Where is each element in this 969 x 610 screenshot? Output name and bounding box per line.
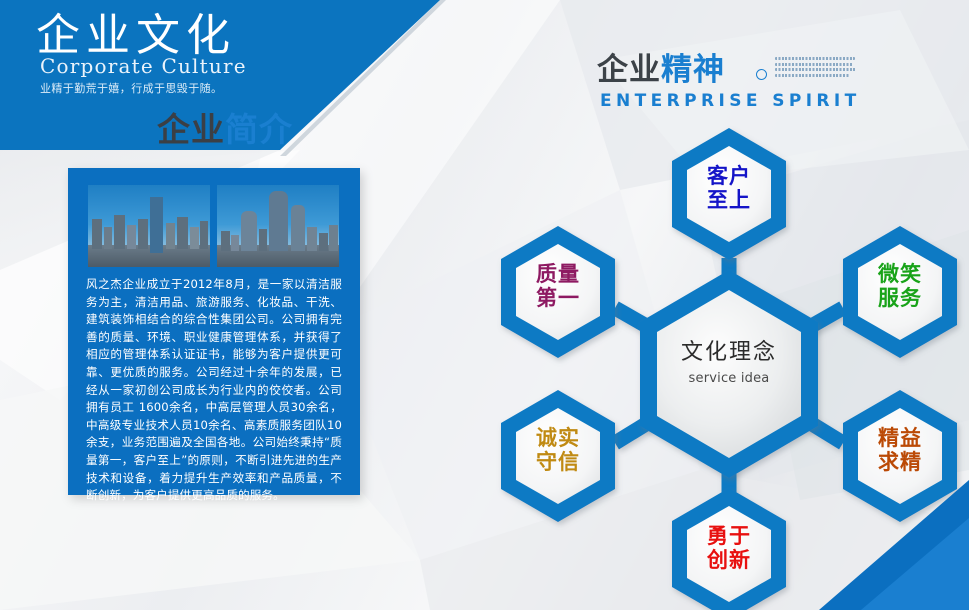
ring-icon	[756, 69, 767, 80]
intro-heading-dark: 企业	[157, 110, 225, 149]
spirit-title-en: ENTERPRISE SPIRIT	[600, 91, 861, 111]
center-hexagon	[640, 270, 818, 478]
hexagon-node-customer-first	[672, 128, 786, 260]
banner-title-en: Corporate Culture	[40, 54, 247, 78]
poster-canvas: 企业文化 Corporate Culture 业精于勤荒于嬉，行成于思毁于随。 …	[0, 0, 969, 610]
city-skyline-photo-1	[88, 185, 210, 267]
hexagon-node-excellence	[843, 390, 957, 522]
intro-heading: 企业简介	[157, 113, 293, 146]
spirit-title-dark: 企业	[597, 52, 661, 88]
intro-heading-blue: 简介	[225, 110, 293, 149]
enterprise-spirit-title: 企业精神 ENTERPRISE SPIRIT	[597, 55, 927, 113]
banner-title-cn: 企业文化	[36, 14, 236, 58]
hexagon-node-quality-first	[501, 226, 615, 358]
company-intro-card: 风之杰企业成立于2012年8月，是一家以清洁服务为主，清洁用品、旅游服务、化妆品…	[68, 168, 360, 495]
company-intro-text: 风之杰企业成立于2012年8月，是一家以清洁服务为主，清洁用品、旅游服务、化妆品…	[86, 276, 342, 505]
photo-strip	[88, 185, 340, 267]
banner-subtitle: 业精于勤荒于嬉，行成于思毁于随。	[40, 80, 222, 96]
hexagon-node-smile-service	[843, 226, 957, 358]
decorative-microtext	[775, 57, 857, 79]
culture-hexagon-diagram: 文化理念 service idea 客户 至上 质量 第一 微笑 服务 诚实 守…	[490, 118, 969, 610]
spirit-title-blue: 精神	[661, 52, 725, 88]
hexagon-node-integrity	[501, 390, 615, 522]
city-skyline-photo-2	[217, 185, 339, 267]
hexagon-node-innovation	[672, 488, 786, 610]
